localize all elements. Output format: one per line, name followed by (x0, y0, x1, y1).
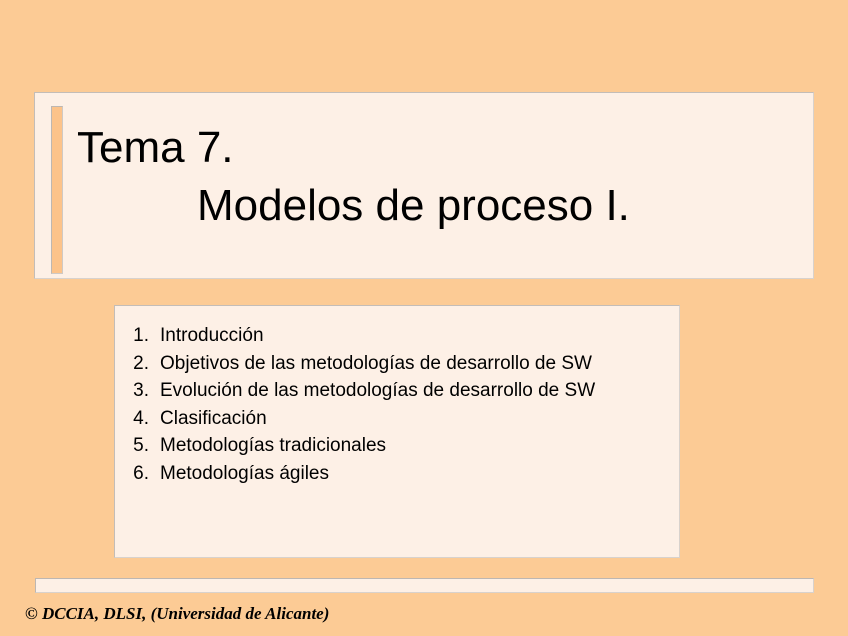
list-item: 6. Metodologías ágiles (126, 460, 671, 488)
list-item-number: 2. (126, 350, 160, 378)
list-item-number: 3. (126, 377, 160, 405)
title-panel: Tema 7. Modelos de proceso I. (34, 92, 814, 279)
list-item: 5. Metodologías tradicionales (126, 432, 671, 460)
list-item-number: 5. (126, 432, 160, 460)
title-line-1: Tema 7. (77, 119, 807, 177)
list-item: 1. Introducción (126, 322, 671, 350)
bottom-rule (35, 578, 814, 593)
list-item-number: 1. (126, 322, 160, 350)
title-accent-bar (51, 106, 63, 274)
page-title: Tema 7. Modelos de proceso I. (77, 119, 807, 235)
list-item-number: 6. (126, 460, 160, 488)
content-panel: 1. Introducción 2. Objetivos de las meto… (114, 305, 680, 558)
list-item-number: 4. (126, 405, 160, 433)
list-item: 4. Clasificación (126, 405, 671, 433)
slide-canvas: Tema 7. Modelos de proceso I. 1. Introdu… (0, 0, 848, 636)
list-item-label: Introducción (160, 322, 671, 350)
list-item-label: Objetivos de las metodologías de desarro… (160, 350, 671, 378)
agenda-list: 1. Introducción 2. Objetivos de las meto… (126, 322, 671, 487)
list-item-label: Metodologías ágiles (160, 460, 671, 488)
list-item: 3. Evolución de las metodologías de desa… (126, 377, 671, 405)
title-line-2: Modelos de proceso I. (77, 177, 807, 235)
footer-copyright: © DCCIA, DLSI, (Universidad de Alicante) (25, 604, 329, 624)
list-item: 2. Objetivos de las metodologías de desa… (126, 350, 671, 378)
list-item-label: Clasificación (160, 405, 671, 433)
list-item-label: Metodologías tradicionales (160, 432, 671, 460)
list-item-label: Evolución de las metodologías de desarro… (160, 377, 671, 405)
